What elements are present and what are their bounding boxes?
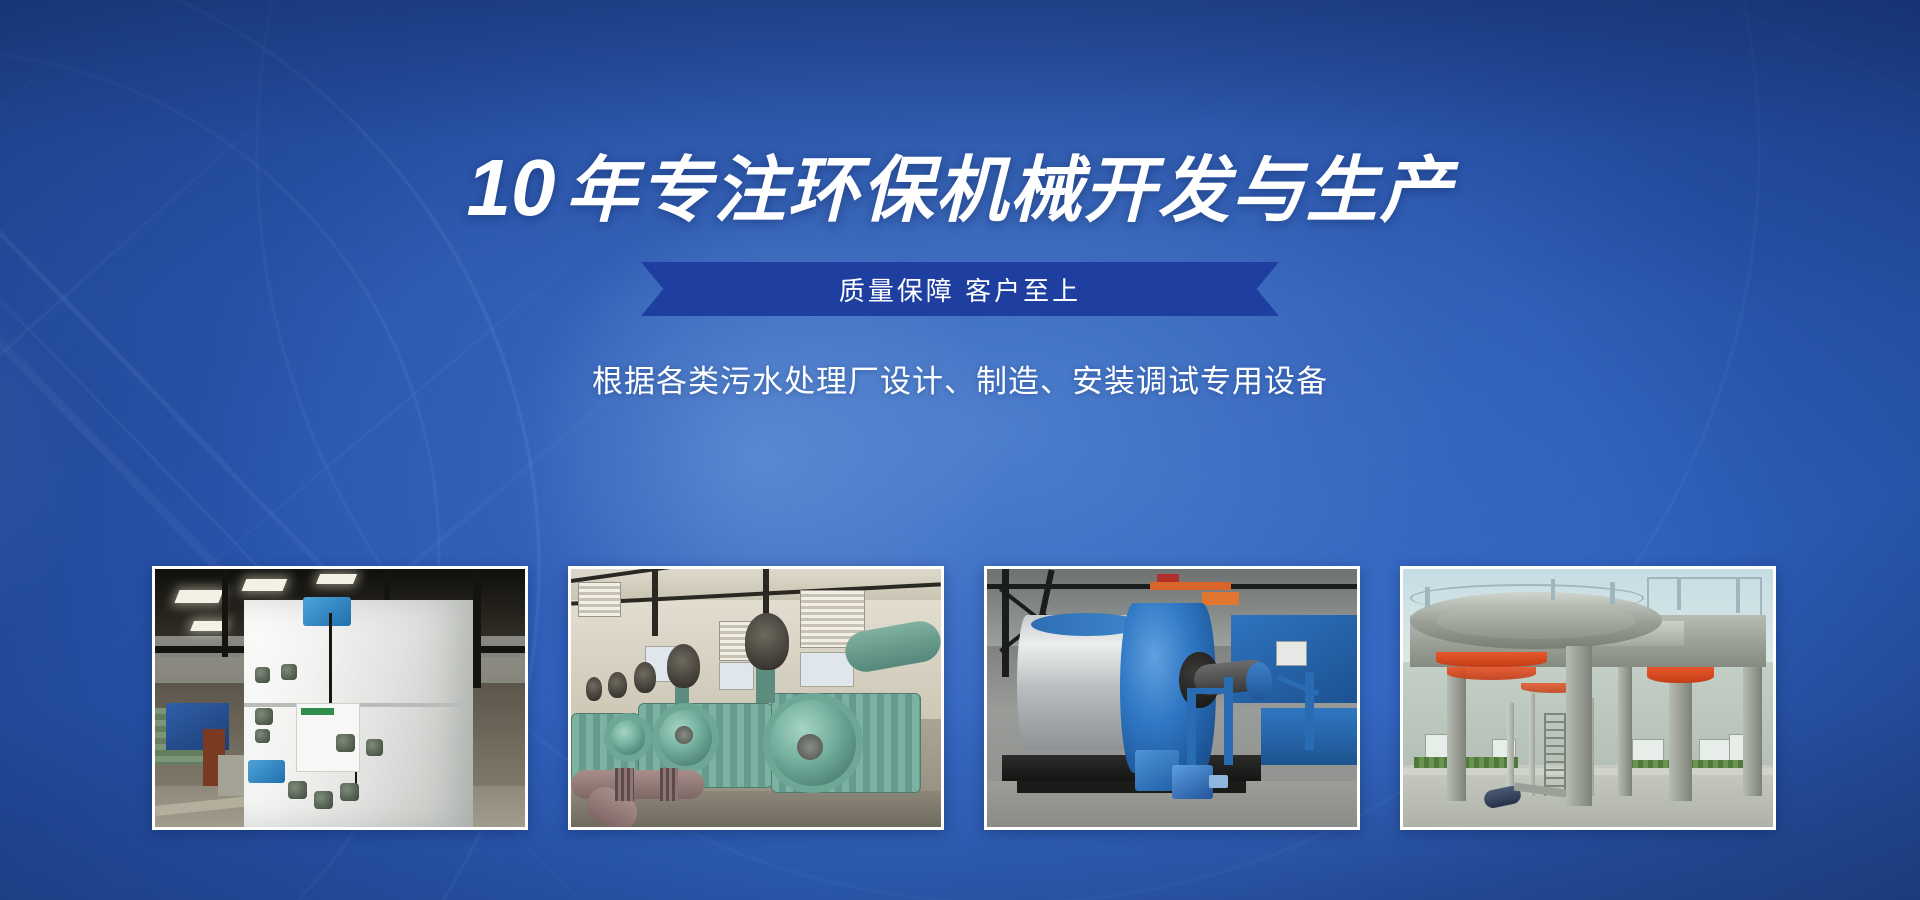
photo-daf-tank: [155, 569, 525, 827]
photo-clarifier: [1403, 569, 1773, 827]
gallery-photo-4[interactable]: [1400, 566, 1776, 830]
headline: 10年专注环保机械开发与生产: [467, 148, 1454, 228]
photo-roots-blowers: [571, 569, 941, 827]
gallery-photo-3[interactable]: [984, 566, 1360, 830]
slogan-ribbon-shape: 质量保障 客户至上: [641, 262, 1279, 316]
headline-text: 年专注环保机械开发与生产: [565, 151, 1453, 231]
gallery-photo-2[interactable]: [568, 566, 944, 830]
gallery-photo-1[interactable]: [152, 566, 528, 830]
headline-number: 10: [467, 143, 556, 232]
slogan-ribbon: 质量保障 客户至上: [641, 262, 1279, 316]
subtitle: 根据各类污水处理厂设计、制造、安装调试专用设备: [592, 356, 1328, 401]
hero-banner: 10年专注环保机械开发与生产 质量保障 客户至上 根据各类污水处理厂设计、制造、…: [0, 0, 1920, 900]
slogan-ribbon-text: 质量保障 客户至上: [839, 271, 1081, 308]
photo-gallery: [152, 566, 1776, 830]
photo-drum-screen: [987, 569, 1357, 827]
